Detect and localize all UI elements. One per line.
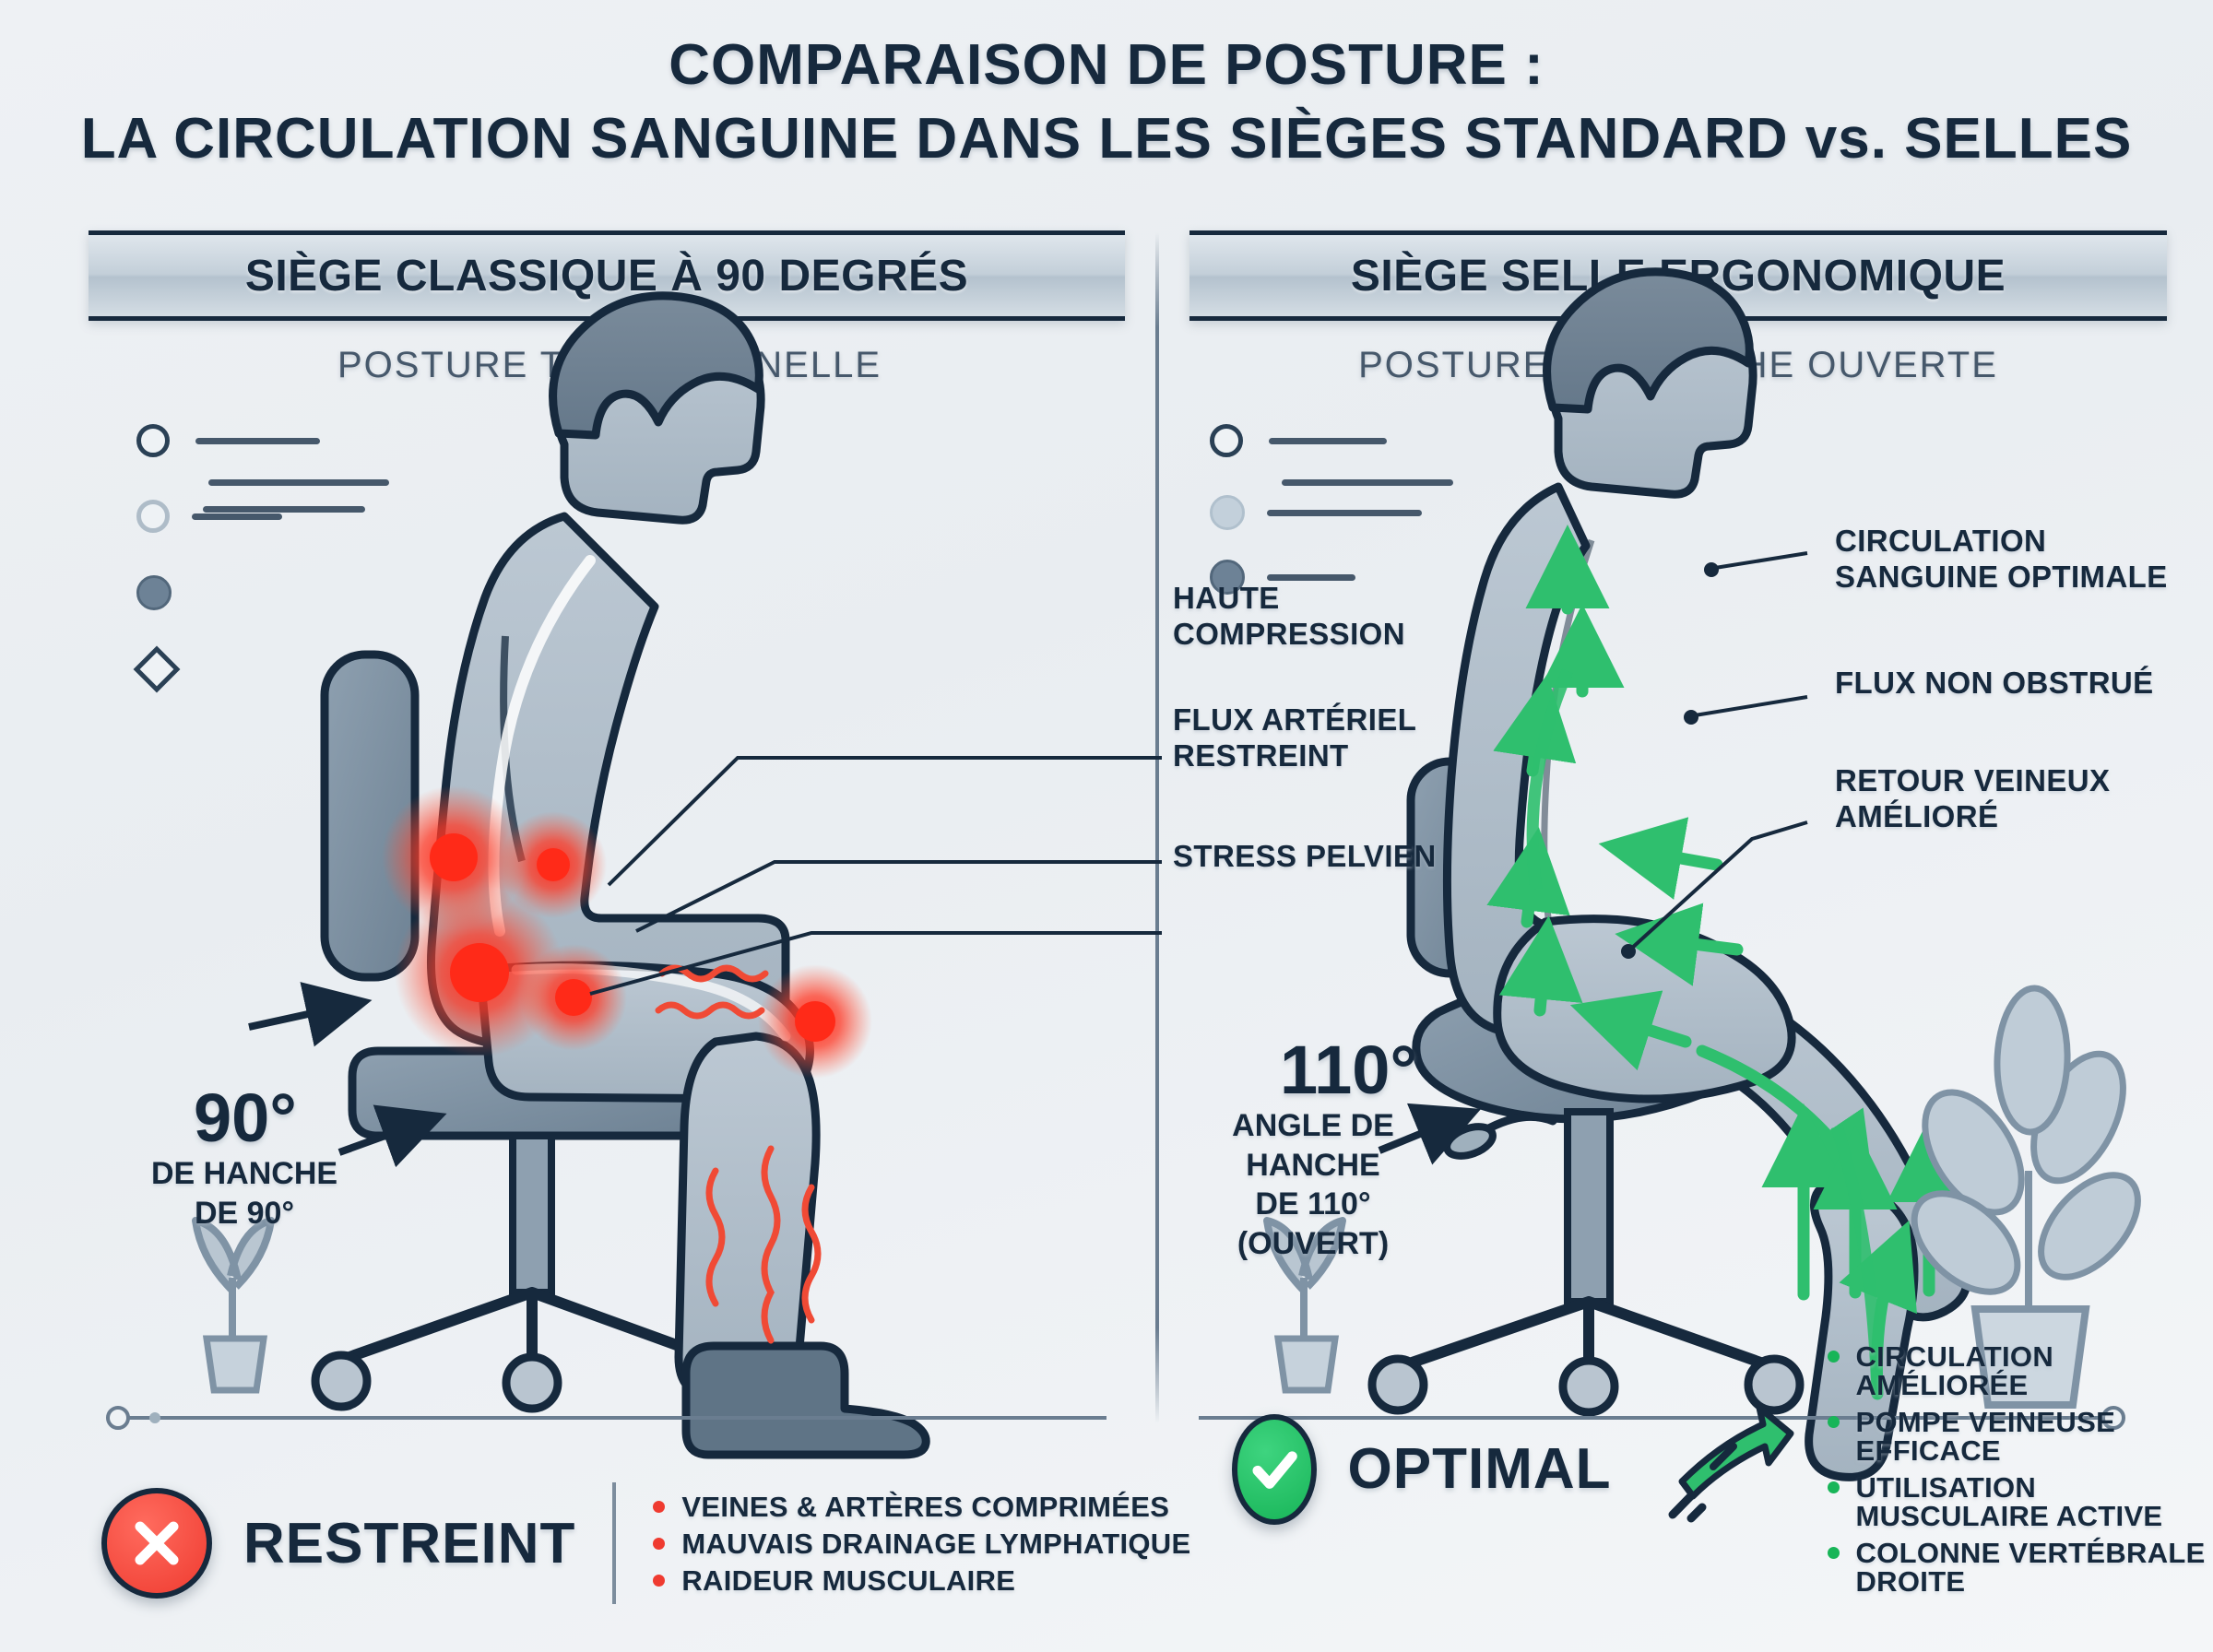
panel-left-header-text: SIÈGE CLASSIQUE À 90 DEGRÉS: [245, 251, 968, 301]
list-item: MAUVAIS DRAINAGE LYMPHATIQUE: [653, 1529, 1190, 1558]
list-item: COLONNE VERTÉBRALE DROITE: [1828, 1539, 2213, 1596]
verdict-label-left: RESTREINT: [243, 1511, 575, 1576]
bullet-text: MAUVAIS DRAINAGE LYMPHATIQUE: [681, 1529, 1190, 1558]
panel-right-header-text: SIÈGE SELLE ERGONOMIQUE: [1351, 251, 2006, 301]
panel-left-header-band: SIÈGE CLASSIQUE À 90 DEGRÉS: [89, 230, 1125, 321]
bullet-dot-icon: [1828, 1547, 1840, 1559]
list-item: CIRCULATION AMÉLIORÉE: [1828, 1342, 2213, 1399]
decor-cluster-right: [1210, 424, 1453, 595]
callout-arterial-line2: RESTREINT: [1173, 738, 1416, 774]
callout-high-compression-line1: HAUTE: [1173, 581, 1405, 617]
decor-bar: [195, 438, 320, 444]
list-item: POMPE VEINEUSE EFFICACE: [1828, 1408, 2213, 1465]
decor-bar: [208, 479, 389, 486]
callout-high-compression: HAUTE COMPRESSION: [1173, 581, 1405, 653]
status-badge-restricted: [101, 1488, 212, 1599]
angle-value-right: 110°: [1280, 1031, 1417, 1109]
callout-venous-line2: AMÉLIORÉ: [1835, 799, 2110, 835]
status-badge-optimal: [1232, 1414, 1317, 1525]
title-line-2: LA CIRCULATION SANGUINE DANS LES SIÈGES …: [0, 106, 2213, 171]
decor-bar: [1269, 438, 1387, 444]
list-item: VEINES & ARTÈRES COMPRIMÉES: [653, 1493, 1190, 1521]
bullet-text: RAIDEUR MUSCULAIRE: [681, 1566, 1015, 1595]
callout-unobstructed-flow: FLUX NON OBSTRUÉ: [1835, 666, 2154, 702]
decor-diamond-icon: [134, 646, 181, 693]
bullet-text: CIRCULATION AMÉLIORÉE: [1856, 1342, 2213, 1399]
list-item: UTILISATION MUSCULAIRE ACTIVE: [1828, 1473, 2213, 1530]
bullet-text: POMPE VEINEUSE EFFICACE: [1856, 1408, 2213, 1465]
decor-ring-icon: [1210, 424, 1243, 457]
callout-high-compression-line2: COMPRESSION: [1173, 617, 1405, 653]
callout-optimal-line2: SANGUINE OPTIMALE: [1835, 560, 2168, 596]
growth-arrow-icon: [1649, 1402, 1796, 1536]
bullet-list-left: VEINES & ARTÈRES COMPRIMÉES MAUVAIS DRAI…: [653, 1484, 1190, 1603]
angle-sub-left: DE HANCHE DE 90°: [138, 1154, 350, 1233]
decor-ring-icon: [136, 424, 170, 457]
bullet-text: UTILISATION MUSCULAIRE ACTIVE: [1856, 1473, 2213, 1530]
callout-unobstructed-line1: FLUX NON OBSTRUÉ: [1835, 666, 2154, 702]
angle-sub-right-line1: ANGLE DE HANCHE: [1175, 1106, 1451, 1185]
bullet-dot-icon: [653, 1538, 665, 1550]
decor-ring-icon: [136, 500, 170, 533]
summary-divider-left: [612, 1482, 616, 1604]
angle-sub-right-line3: (OUVERT): [1175, 1224, 1451, 1264]
panel-left: SIÈGE CLASSIQUE À 90 DEGRÉS POSTURE TRAD…: [89, 230, 1130, 1447]
bullet-text: VEINES & ARTÈRES COMPRIMÉES: [681, 1493, 1169, 1521]
bullet-dot-icon: [1828, 1351, 1840, 1363]
decor-cluster-left: [136, 424, 389, 686]
list-item: RAIDEUR MUSCULAIRE: [653, 1566, 1190, 1595]
bullet-dot-icon: [1828, 1416, 1840, 1428]
callout-arterial-line1: FLUX ARTÉRIEL: [1173, 702, 1416, 738]
callout-venous-line1: RETOUR VEINEUX: [1835, 763, 2110, 799]
panel-divider: [1155, 232, 1159, 1423]
angle-sub-left-line1: DE HANCHE: [138, 1154, 350, 1194]
decor-bar: [1282, 479, 1453, 486]
callout-pelvic-line1: STRESS PELVIEN: [1173, 839, 1437, 875]
bullet-text: COLONNE VERTÉBRALE DROITE: [1856, 1539, 2213, 1596]
angle-sub-left-line2: DE 90°: [138, 1194, 350, 1233]
panel-right-header-band: SIÈGE SELLE ERGONOMIQUE: [1189, 230, 2167, 321]
bullet-dot-icon: [653, 1575, 665, 1587]
callout-optimal-circulation: CIRCULATION SANGUINE OPTIMALE: [1835, 524, 2168, 596]
callout-restricted-arterial-flow: FLUX ARTÉRIEL RESTREINT: [1173, 702, 1416, 774]
check-icon: [1246, 1441, 1303, 1498]
cross-icon: [128, 1515, 185, 1572]
decor-bar: [192, 513, 282, 520]
bullet-dot-icon: [653, 1501, 665, 1513]
panel-left-subheader: POSTURE TRADITIONNELLE: [89, 345, 1130, 386]
decor-bar: [1267, 574, 1355, 581]
summary-right: OPTIMAL CIRCULATION AMÉLIORÉE POMPE VEIN…: [1232, 1334, 2213, 1604]
callout-venous-return: RETOUR VEINEUX AMÉLIORÉ: [1835, 763, 2110, 835]
verdict-label-right: OPTIMAL: [1348, 1436, 1612, 1502]
bullet-dot-icon: [1828, 1481, 1840, 1493]
summary-left: RESTREINT VEINES & ARTÈRES COMPRIMÉES MA…: [101, 1482, 1190, 1604]
callout-optimal-line1: CIRCULATION: [1835, 524, 2168, 560]
angle-value-left: 90°: [194, 1079, 297, 1157]
decor-dot-icon: [136, 575, 172, 610]
callout-pelvic-stress: STRESS PELVIEN: [1173, 839, 1437, 875]
panel-right-subheader: POSTURE DE HANCHE OUVERTE: [1189, 345, 2167, 386]
decor-bar: [1267, 510, 1422, 516]
page-title: COMPARAISON DE POSTURE : LA CIRCULATION …: [0, 35, 2213, 171]
decor-dot-icon: [1210, 495, 1245, 530]
angle-sub-right: ANGLE DE HANCHE DE 110° (OUVERT): [1175, 1106, 1451, 1263]
angle-sub-right-line2: DE 110°: [1175, 1185, 1451, 1224]
title-line-1: COMPARAISON DE POSTURE :: [0, 35, 2213, 97]
bullet-list-right: CIRCULATION AMÉLIORÉE POMPE VEINEUSE EFF…: [1828, 1334, 2213, 1604]
